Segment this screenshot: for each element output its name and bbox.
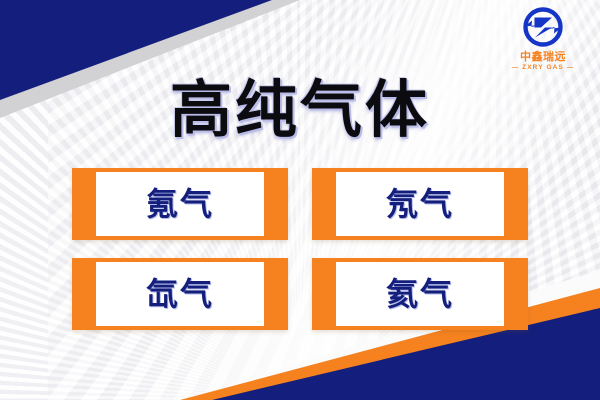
gas-card-helium[interactable]: 氦气 [312, 258, 528, 330]
logo-company-name-cn: 中鑫瑞远 [500, 51, 586, 63]
z-circle-emblem-icon [519, 6, 567, 50]
poster-canvas: 中鑫瑞远 — ZXRY GAS — 高纯气体 氪气 氖气 氙气 氦气 [0, 0, 600, 400]
gas-card-inner: 氖气 [336, 172, 504, 236]
gas-card-label: 氖气 [386, 186, 454, 222]
gas-card-grid: 氪气 氖气 氙气 氦气 [72, 168, 528, 330]
page-title: 高纯气体 [0, 74, 600, 146]
company-logo: 中鑫瑞远 — ZXRY GAS — [500, 6, 586, 72]
logo-company-name-en: — ZXRY GAS — [500, 64, 586, 72]
gas-card-neon[interactable]: 氖气 [312, 168, 528, 240]
gas-card-xenon[interactable]: 氙气 [72, 258, 288, 330]
gas-card-krypton[interactable]: 氪气 [72, 168, 288, 240]
gas-card-label: 氦气 [386, 276, 454, 312]
gas-card-inner: 氙气 [96, 262, 264, 326]
gas-card-label: 氙气 [146, 276, 214, 312]
gas-card-inner: 氪气 [96, 172, 264, 236]
gas-card-label: 氪气 [146, 186, 214, 222]
gas-card-inner: 氦气 [336, 262, 504, 326]
